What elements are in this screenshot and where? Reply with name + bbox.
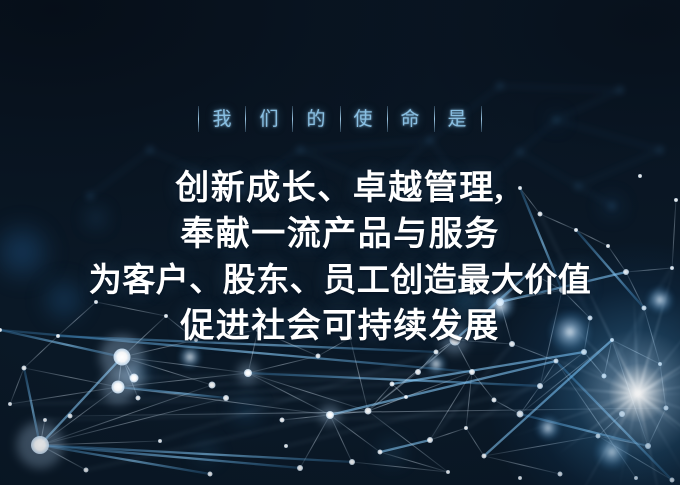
network-node-15 (284, 444, 288, 448)
network-node-24 (469, 369, 475, 375)
network-node-55 (316, 354, 321, 359)
eyebrow-char-5: 是 (448, 106, 468, 132)
network-edge (368, 411, 448, 472)
faint-network-node-10 (147, 147, 153, 153)
eyebrow-separator (245, 106, 246, 132)
network-node-21 (415, 369, 421, 375)
mission-line-1: 创新成长、卓越管理, (0, 166, 680, 212)
eyebrow-separator (340, 106, 341, 132)
eyebrow-char-0: 我 (212, 106, 232, 132)
network-node-63 (68, 414, 73, 419)
network-edge (248, 356, 318, 373)
network-node-12 (297, 465, 303, 471)
faint-network-node-8 (297, 147, 303, 153)
network-node-52 (446, 470, 450, 474)
network-node-27 (464, 426, 468, 430)
faint-network-node-5 (657, 147, 663, 153)
network-node-17 (158, 439, 162, 443)
network-edge (10, 368, 24, 404)
network-node-11 (280, 418, 285, 423)
light-ray-11 (508, 393, 638, 439)
eyebrow-char-3: 使 (354, 106, 374, 132)
faint-network-node-12 (617, 87, 623, 93)
network-edge (380, 452, 448, 472)
network-edge (138, 384, 392, 398)
network-node-62 (8, 402, 12, 406)
secondary-glow-5 (425, 353, 447, 375)
network-node-1 (112, 381, 125, 394)
faint-network-node-13 (497, 83, 503, 89)
eyebrow-separator (292, 106, 293, 132)
network-node-2 (209, 382, 216, 389)
eyebrow-separator (481, 106, 482, 132)
network-edge (248, 373, 368, 411)
network-node-51 (482, 454, 487, 459)
network-node-10 (244, 369, 252, 377)
network-node-18 (365, 408, 372, 415)
network-node-3 (223, 395, 229, 401)
eyebrow-separator (198, 106, 199, 132)
mission-poster: 我们的使命是 创新成长、卓越管理,奉献一流产品与服务为客户、股东、员工创造最大价… (0, 0, 680, 485)
network-node-0 (31, 436, 49, 454)
network-edge (380, 440, 430, 452)
network-edge (352, 462, 448, 472)
faint-network-edge (500, 86, 620, 90)
eyebrow-separator (387, 106, 388, 132)
network-node-5 (130, 374, 139, 383)
mission-line-2: 奉献一流产品与服务 (0, 212, 680, 258)
faint-network-edge (300, 140, 430, 150)
network-node-61 (22, 366, 27, 371)
faint-network-node-1 (517, 149, 523, 155)
network-node-7 (43, 418, 47, 422)
network-node-16 (208, 472, 213, 477)
network-edge (466, 428, 484, 456)
network-edge (40, 398, 226, 445)
eyebrow-char-4: 命 (401, 106, 421, 132)
network-node-19 (390, 382, 395, 387)
eyebrow-char-2: 的 (306, 106, 326, 132)
eyebrow-heading: 我们的使命是 (0, 106, 680, 132)
mission-statement: 创新成长、卓越管理,奉献一流产品与服务为客户、股东、员工创造最大价值促进社会可持… (0, 166, 680, 350)
network-node-53 (378, 450, 383, 455)
network-node-20 (404, 395, 408, 399)
eyebrow-char-1: 们 (259, 106, 279, 132)
network-node-13 (326, 411, 334, 419)
mission-line-3: 为客户、股东、员工创造最大价值 (0, 258, 680, 304)
network-node-14 (349, 459, 355, 465)
network-node-26 (427, 437, 433, 443)
faint-network-node-6 (427, 137, 433, 143)
mission-line-4: 促进社会可持续发展 (0, 304, 680, 350)
network-node-8 (84, 468, 89, 473)
network-node-4 (114, 349, 131, 366)
eyebrow-separator (434, 106, 435, 132)
network-node-6 (136, 396, 141, 401)
